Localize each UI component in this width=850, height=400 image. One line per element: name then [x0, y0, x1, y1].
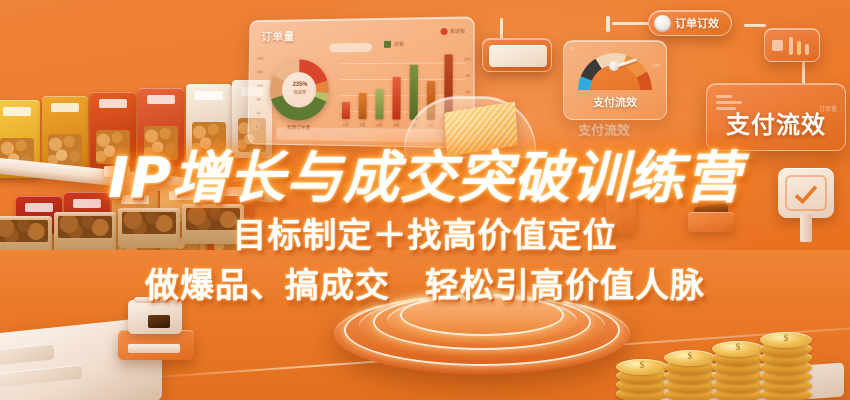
chart-bar: [342, 102, 350, 119]
legend-dot-met: [384, 41, 391, 48]
snack-bag-label: [51, 103, 79, 112]
check-sign: [778, 168, 834, 242]
snack-bag: [90, 92, 136, 170]
donut-center-sub: 完成率: [283, 90, 317, 96]
nut-crate: [118, 208, 180, 248]
coin-top: [712, 341, 764, 357]
legend-label-met: 达标: [394, 41, 404, 48]
y-axis-tick: 200: [257, 56, 263, 61]
snack-bag-label: [99, 99, 127, 108]
badge-knob-icon: [654, 15, 671, 32]
snack-bag: [138, 88, 184, 166]
stage-podium: [334, 264, 630, 374]
pay-card-row: [716, 101, 742, 104]
snack-bag: [186, 84, 232, 162]
coin-top: [760, 332, 812, 348]
decor-orange-box: [688, 212, 734, 232]
pay-card-row: [716, 95, 732, 98]
gauge-corner-max: 100: [652, 63, 660, 68]
price-tag: [192, 160, 218, 171]
dashboard-title: 订单量: [261, 28, 295, 44]
chip-indicator: [805, 44, 809, 55]
snack-bag-label: [147, 95, 175, 104]
chip-indicator: [772, 40, 783, 51]
right-axis-tick: 100: [463, 56, 470, 61]
gauge-label: 支付流效: [564, 94, 666, 110]
connector-wire: [612, 22, 652, 25]
y-axis-tick: 0: [256, 124, 258, 129]
promo-banner: 订单量 达标 未达标 235% 完成率 本期订单量 200 160 120 80…: [0, 0, 850, 400]
pos-terminal: [118, 298, 194, 360]
order-efficiency-badge-label: 订单订效: [675, 15, 719, 31]
gauge-corner-min: 0: [570, 46, 573, 51]
y-axis-tick: 80: [257, 97, 261, 102]
coin-top: [664, 350, 716, 366]
pos-receipt-slot: [128, 344, 180, 353]
coin-top: [616, 359, 668, 375]
order-efficiency-badge[interactable]: 订单订效: [648, 10, 732, 36]
donut-center-value: 235%: [283, 82, 317, 88]
y-axis-tick: 120: [257, 83, 263, 88]
nut-crate: [182, 204, 244, 244]
legend-label-unmet: 未达标: [450, 28, 466, 35]
snack-bag-label: [73, 199, 101, 208]
chart-bar: [392, 77, 400, 120]
coin-stacks: [616, 294, 836, 400]
y-axis-tick: 40: [256, 110, 260, 115]
dashboard-filter-pill[interactable]: [329, 43, 372, 52]
chip-indicator: [789, 37, 793, 55]
snack-bag-label: [195, 91, 223, 100]
y-axis-tick: 160: [257, 69, 263, 74]
snack-bag-label: [169, 191, 197, 200]
payment-flow-card[interactable]: 订单量 支付流效: [706, 83, 846, 151]
right-axis-tick: 60: [466, 89, 471, 94]
nut-crate: [54, 212, 116, 252]
gauge-chart: [578, 53, 652, 90]
snack-bag-label: [121, 195, 149, 204]
connector-wire: [606, 16, 610, 32]
price-tag: [104, 166, 130, 177]
payment-flow-ghost-label: 支付流效: [578, 120, 630, 139]
payment-gauge-card: 0 100 支付流效: [563, 40, 667, 120]
podium-glow-inner: [400, 294, 564, 336]
payment-flow-card-title: 支付流效: [707, 105, 845, 140]
legend-dot-unmet: [441, 28, 448, 35]
chart-bar: [410, 65, 418, 120]
snack-bag-label: [217, 187, 245, 196]
pos-handle: [134, 297, 168, 303]
chart-bar: [359, 93, 367, 119]
floating-mini-card: [482, 38, 552, 72]
pos-screen: [148, 315, 170, 328]
counter-slab: [0, 343, 54, 366]
chart-bar: [375, 89, 383, 119]
device-chip-card: [764, 28, 820, 62]
decor-orange-box: [606, 188, 636, 234]
chip-indicator: [797, 41, 801, 55]
snack-bag-label: [25, 203, 53, 212]
right-axis-tick: 80: [466, 73, 471, 78]
gauge-needle-hub: [609, 61, 619, 71]
connector-wire: [744, 24, 766, 27]
check-sign-post: [800, 214, 812, 242]
counter-slab: [0, 364, 82, 387]
mini-card-sheet: [489, 45, 547, 67]
snack-bag-label: [3, 107, 31, 116]
